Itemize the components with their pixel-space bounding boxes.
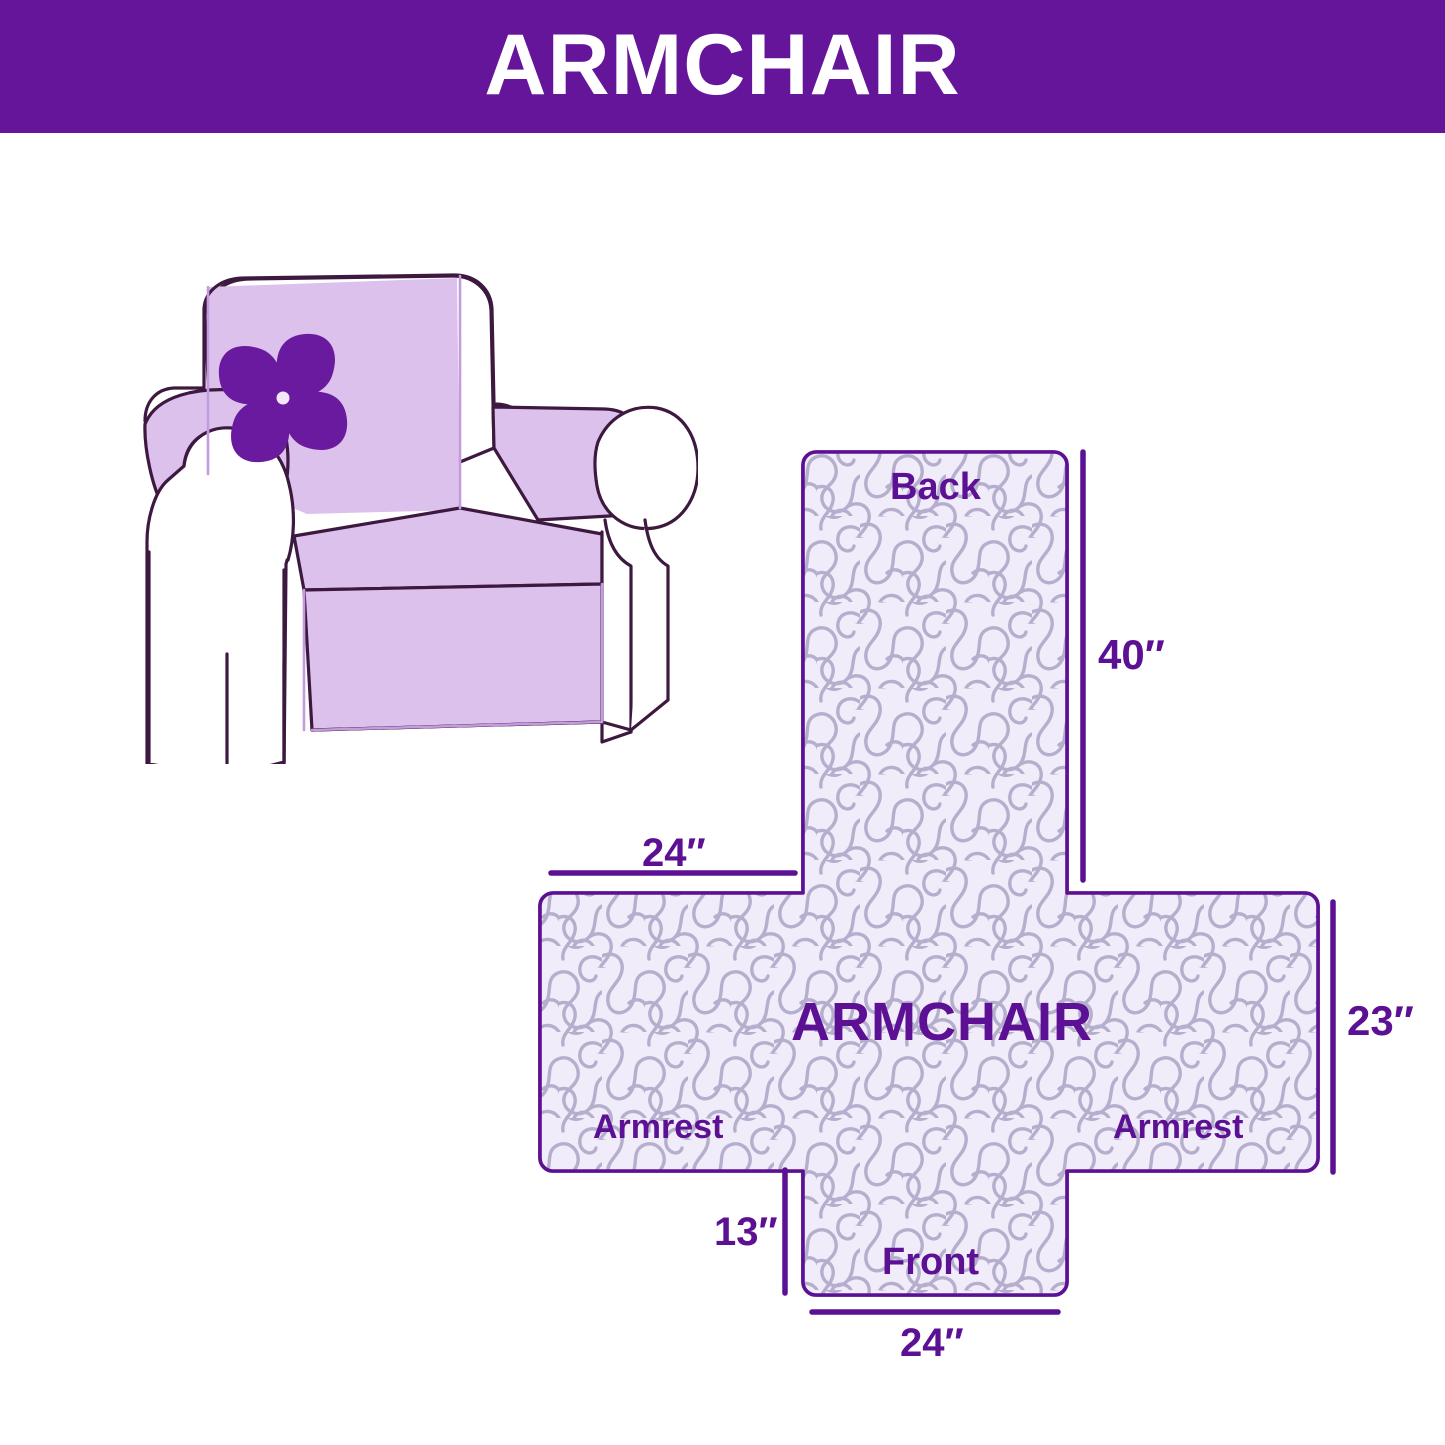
armchair-illustration [108,252,698,764]
header-banner: ARMCHAIR [0,0,1445,133]
fan-pinwheel-logo [219,334,347,462]
panel-label-armrest-right: Armrest [1113,1110,1243,1144]
panel-label-armrest-left: Armrest [593,1110,723,1144]
panel-label-back: Back [890,468,981,506]
dimension-label-front-width: 24″ [900,1323,964,1363]
panel-label-center: ARMCHAIR [791,995,1093,1049]
panel-label-front: Front [882,1243,979,1281]
dimension-label-back-height: 40″ [1098,634,1165,676]
page-root: ARMCHAIR [0,0,1445,1445]
dimension-label-front-height: 13″ [714,1212,778,1252]
dimension-label-armrest-width: 24″ [642,833,706,873]
page-title: ARMCHAIR [484,22,960,108]
dimension-label-center-height: 23″ [1347,1000,1414,1042]
